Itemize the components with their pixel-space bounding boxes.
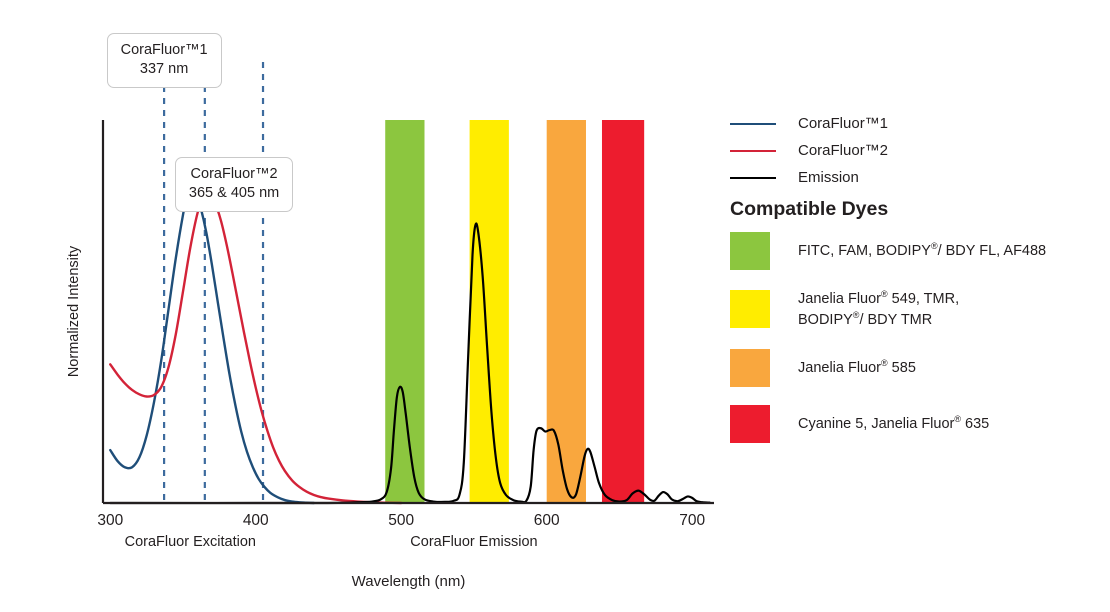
legend-series-row-0: CoraFluor™1 <box>730 110 1110 137</box>
dye-color-swatch-0 <box>730 232 770 270</box>
y-axis-title: Normalized Intensity <box>66 245 82 377</box>
legend-series-label-2: Emission <box>798 169 859 186</box>
region-label-0: CoraFluor Excitation <box>125 534 256 550</box>
spectra-figure: 300400500600700CoraFluor ExcitationCoraF… <box>0 0 1110 612</box>
dye-color-swatch-1 <box>730 290 770 328</box>
legend-line-swatch-0 <box>730 123 776 125</box>
callout-corafluor2-line2: 365 & 405 nm <box>189 184 279 203</box>
compatible-dyes-heading: Compatible Dyes <box>730 198 888 221</box>
yellow-band <box>470 120 509 503</box>
orange-band <box>547 120 586 503</box>
dye-label-0: FITC, FAM, BODIPY®/ BDY FL, AF488 <box>798 240 1046 261</box>
callout-corafluor1-line1: CoraFluor™1 <box>121 42 208 58</box>
red-band <box>602 120 644 503</box>
compatible-dyes-list: FITC, FAM, BODIPY®/ BDY FL, AF488Janelia… <box>730 232 1110 461</box>
x-axis-title: Wavelength (nm) <box>352 573 466 590</box>
series-curve-corafluor1 <box>110 189 314 503</box>
dye-row-0: FITC, FAM, BODIPY®/ BDY FL, AF488 <box>730 232 1110 270</box>
legend-series-list: CoraFluor™1CoraFluor™2Emission <box>730 110 1110 191</box>
legend-series-label-1: CoraFluor™2 <box>798 142 888 159</box>
dye-row-1: Janelia Fluor® 549, TMR,BODIPY®/ BDY TMR <box>730 288 1110 331</box>
legend-panel: CoraFluor™1CoraFluor™2Emission Compatibl… <box>730 0 1110 612</box>
dye-row-3: Cyanine 5, Janelia Fluor® 635 <box>730 405 1110 443</box>
x-tick-label-600: 600 <box>534 512 560 529</box>
x-tick-label-700: 700 <box>679 512 705 529</box>
green-band <box>385 120 424 503</box>
dye-color-swatch-3 <box>730 405 770 443</box>
spectra-chart-svg: 300400500600700CoraFluor ExcitationCoraF… <box>0 0 730 612</box>
callout-corafluor1: CoraFluor™1 337 nm <box>107 33 222 88</box>
legend-series-row-2: Emission <box>730 164 1110 191</box>
chart-plot-area: 300400500600700CoraFluor ExcitationCoraF… <box>0 0 730 612</box>
legend-series-label-0: CoraFluor™1 <box>798 115 888 132</box>
legend-series-row-1: CoraFluor™2 <box>730 137 1110 164</box>
callout-corafluor2-line1: CoraFluor™2 <box>191 166 278 182</box>
x-tick-label-500: 500 <box>388 512 414 529</box>
callout-corafluor2: CoraFluor™2 365 & 405 nm <box>175 157 293 212</box>
legend-line-swatch-1 <box>730 150 776 152</box>
dye-color-swatch-2 <box>730 349 770 387</box>
x-tick-label-300: 300 <box>97 512 123 529</box>
region-label-1: CoraFluor Emission <box>410 534 537 550</box>
dye-label-2: Janelia Fluor® 585 <box>798 357 916 378</box>
dye-row-2: Janelia Fluor® 585 <box>730 349 1110 387</box>
series-curve-corafluor2 <box>110 194 401 503</box>
dye-label-1: Janelia Fluor® 549, TMR,BODIPY®/ BDY TMR <box>798 288 959 331</box>
x-tick-label-400: 400 <box>243 512 269 529</box>
dye-label-3: Cyanine 5, Janelia Fluor® 635 <box>798 413 989 434</box>
legend-line-swatch-2 <box>730 177 776 179</box>
callout-corafluor1-line2: 337 nm <box>121 60 208 79</box>
